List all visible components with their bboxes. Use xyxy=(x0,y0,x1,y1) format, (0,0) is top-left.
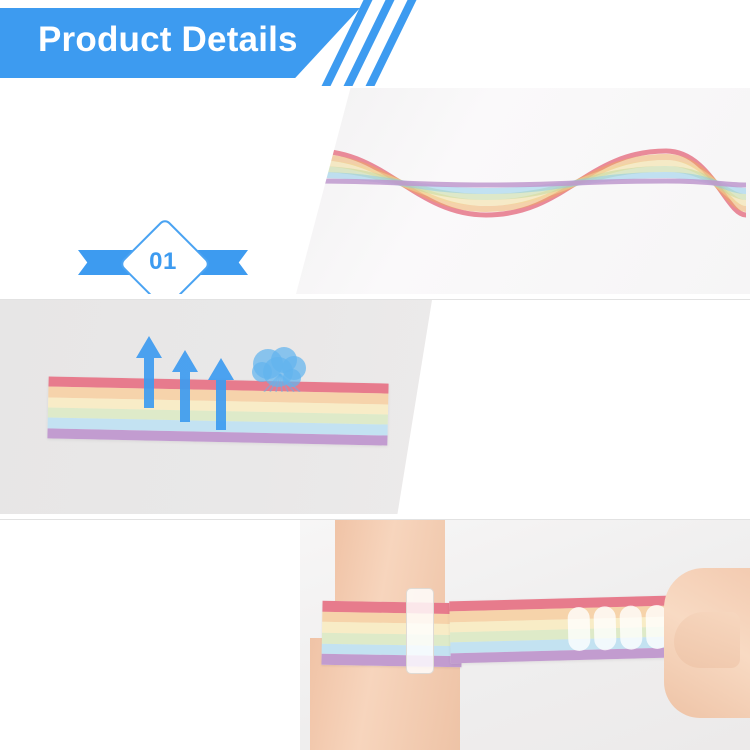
puff-blob xyxy=(252,362,272,382)
twisted-band-graphic xyxy=(316,146,746,220)
airflow-arrow-icon xyxy=(136,336,162,408)
feature-panel-velcro: 03 adjustable velcro xyxy=(0,520,750,750)
twist-stripe-purple xyxy=(316,181,746,185)
airflow-arrows-icon xyxy=(128,328,268,458)
breathable-airflow-illustration xyxy=(0,300,432,514)
band-loop-keeper xyxy=(406,588,434,674)
wrist-velcro-photo xyxy=(300,520,750,750)
band-stripes xyxy=(321,601,462,667)
airflow-arrow-icon xyxy=(208,358,234,430)
velcro-block xyxy=(619,605,642,650)
badge-01: 01 soft xyxy=(78,218,248,294)
header-banner: Product Details xyxy=(0,0,750,86)
page-title: Product Details xyxy=(38,20,298,60)
feature-panel-breathable: 02 breathable xyxy=(0,300,750,514)
hand-finger xyxy=(674,612,740,668)
badge-number: 01 xyxy=(78,218,248,294)
vapor-puff-icon xyxy=(248,344,310,392)
badge-mark: 01 xyxy=(78,218,248,294)
airflow-arrow-icon xyxy=(172,350,198,422)
twisted-rainbow-band-photo xyxy=(296,88,750,294)
velcro-block xyxy=(593,606,616,651)
feature-panel-soft: 01 soft xyxy=(0,88,750,294)
band-on-wrist xyxy=(321,601,462,667)
velcro-block xyxy=(567,607,590,652)
product-details-infographic: Product Details 01 soft xyxy=(0,0,750,750)
